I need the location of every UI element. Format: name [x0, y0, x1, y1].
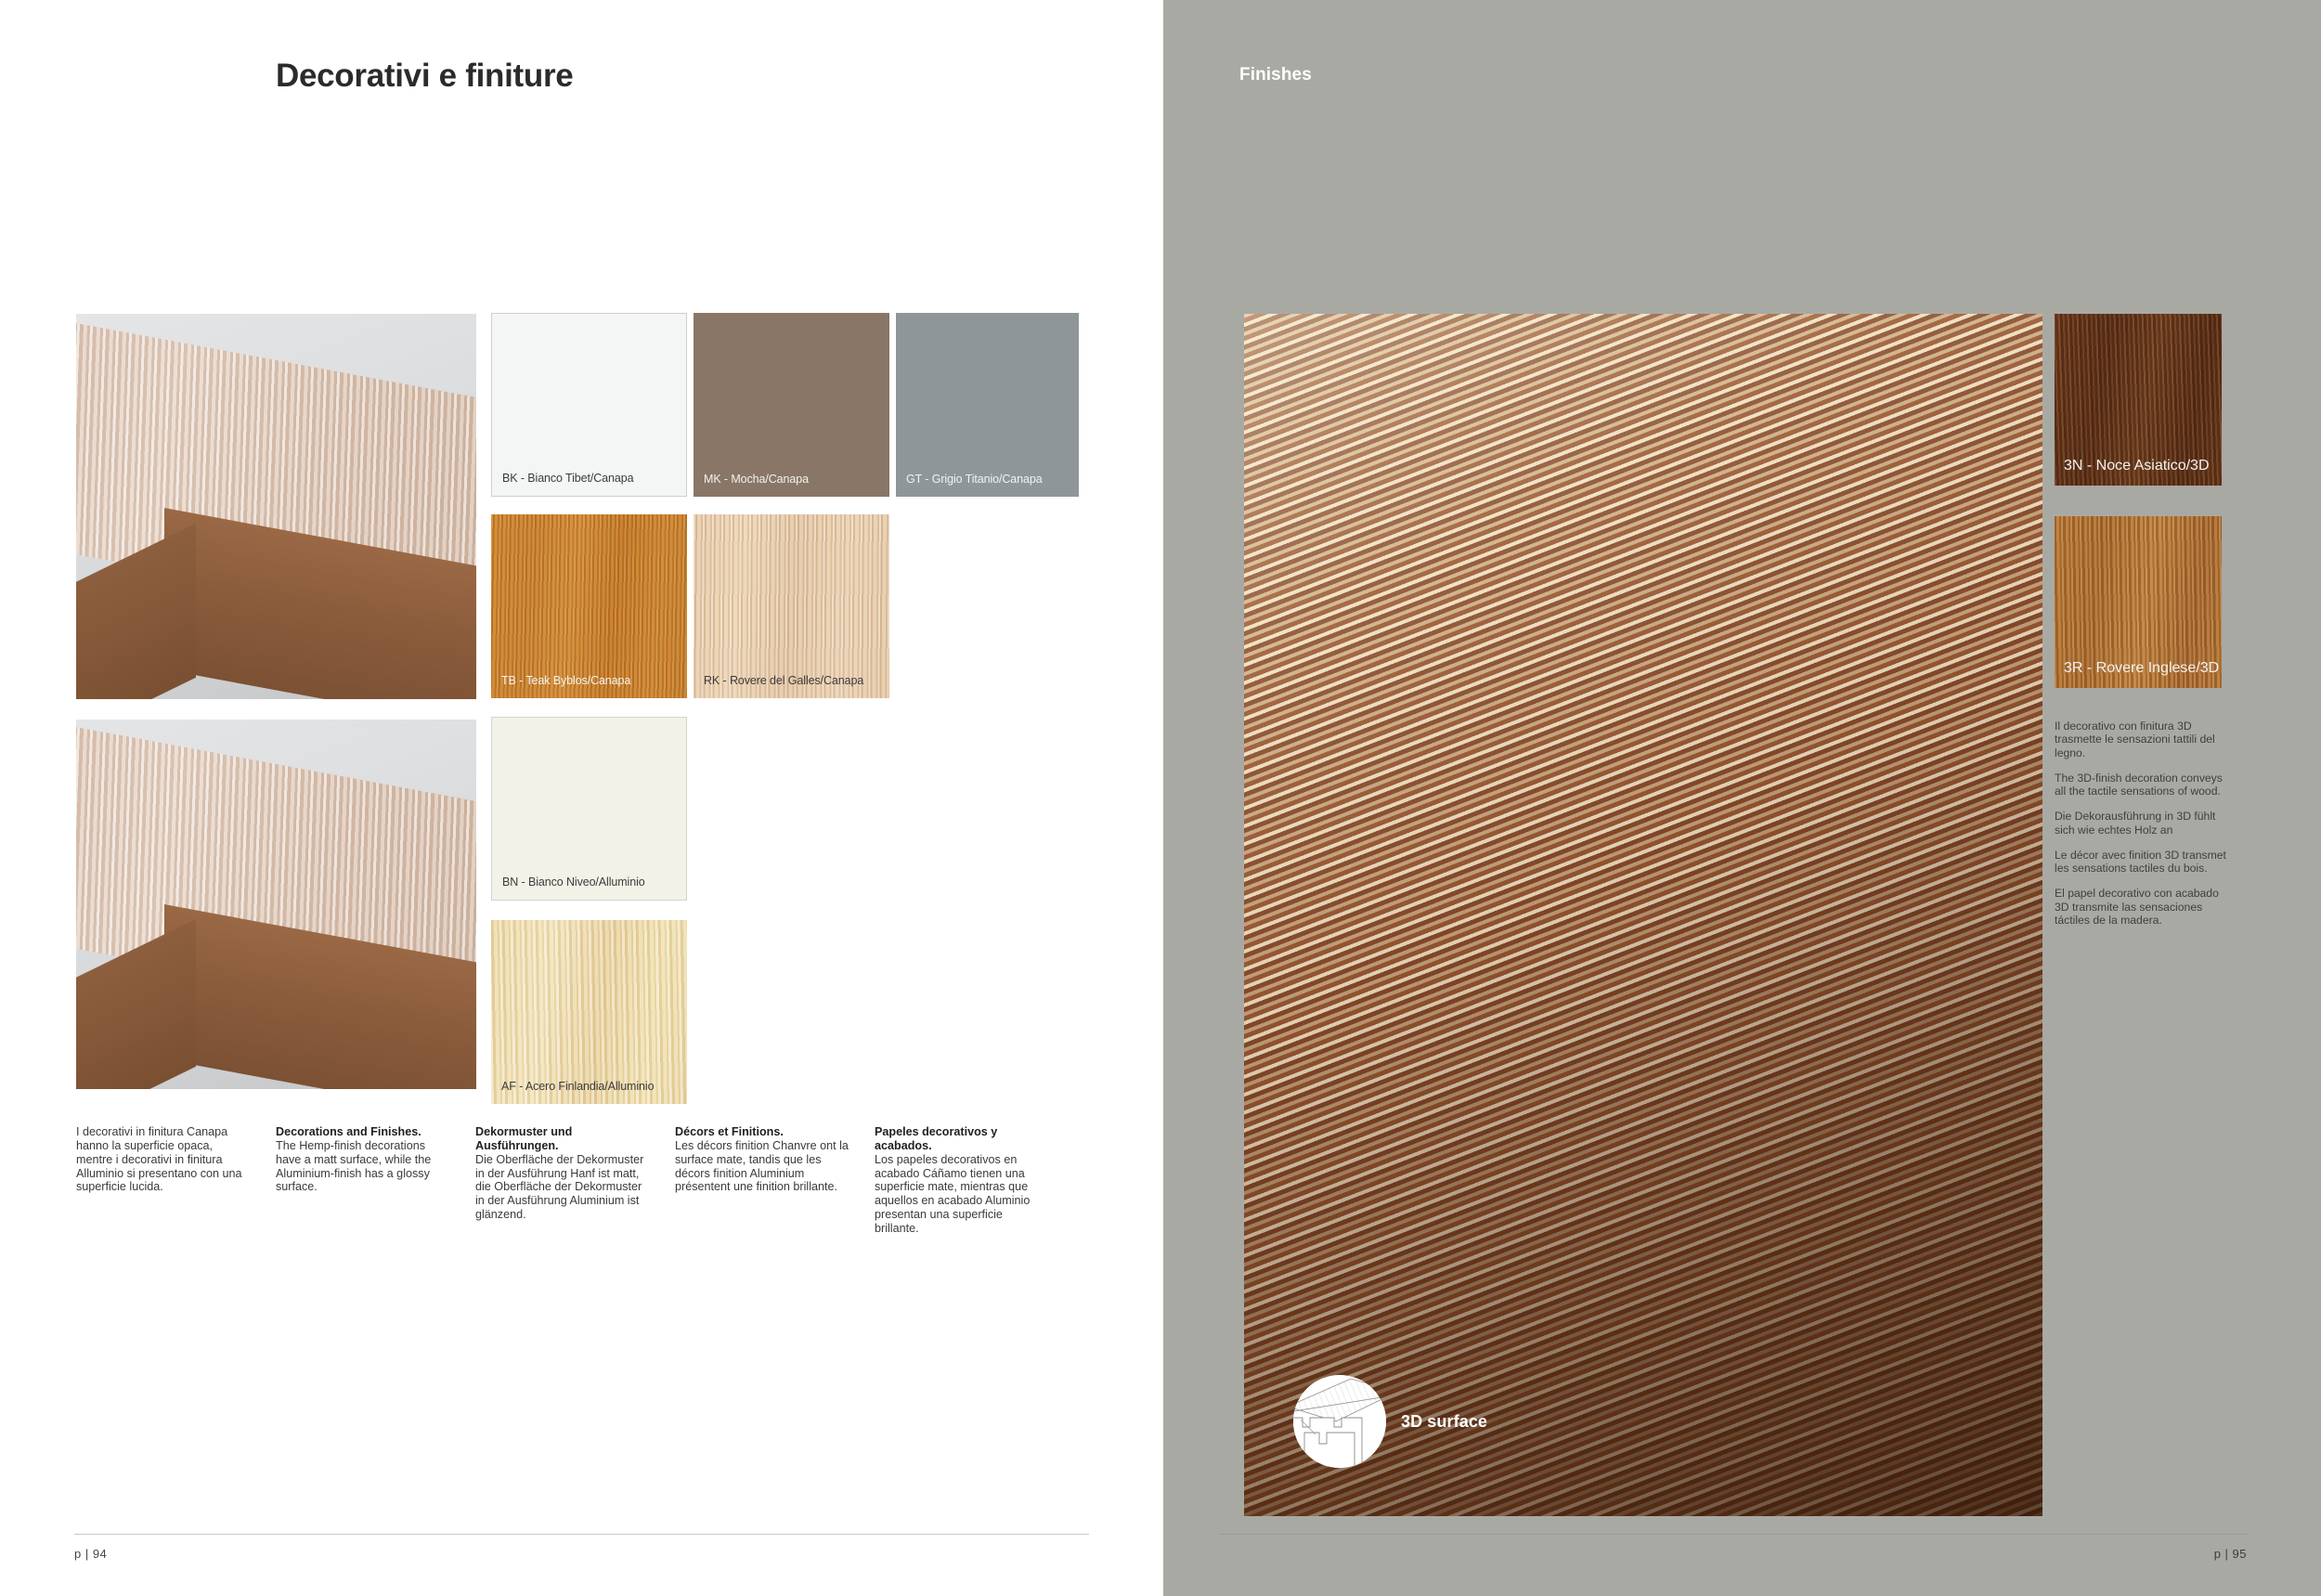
caption-body: Die Oberfläche der Dekormuster in der Au…: [475, 1153, 650, 1222]
side-description-block: Il decorativo con finitura 3D trasmette …: [2055, 720, 2226, 939]
section-title-finishes: Finishes: [1239, 65, 1312, 85]
side-text-es: El papel decorativo con acabado 3D trans…: [2055, 887, 2226, 927]
swatch-mk[interactable]: MK - Mocha/Canapa: [694, 313, 889, 497]
side-text-it: Il decorativo con finitura 3D trasmette …: [2055, 720, 2226, 759]
page-number-right: p | 95: [2214, 1547, 2247, 1561]
swatch-3n[interactable]: 3N - Noce Asiatico/3D: [2055, 314, 2222, 486]
swatch-af[interactable]: AF - Acero Finlandia/Alluminio: [491, 920, 687, 1104]
swatch-texture: [492, 314, 686, 496]
caption-body: Les décors finition Chanvre ont la surfa…: [675, 1139, 849, 1194]
badge-label: 3D surface: [1401, 1412, 1487, 1432]
swatch-label: TB - Teak Byblos/Canapa: [501, 674, 630, 687]
caption-heading: Decorations and Finishes.: [276, 1125, 450, 1139]
footer-rule: [1219, 1534, 2247, 1535]
panel-profile-icon: [1293, 1375, 1386, 1468]
swatch-bn[interactable]: BN - Bianco Niveo/Alluminio: [491, 717, 687, 901]
caption-column-de: Dekormuster und Ausführungen. Die Oberfl…: [475, 1125, 675, 1236]
caption-heading: Dekormuster und Ausführungen.: [475, 1125, 650, 1153]
swatch-label: BN - Bianco Niveo/Alluminio: [502, 876, 645, 889]
side-text-de: Die Dekorausführung in 3D fühlt sich wie…: [2055, 810, 2226, 837]
caption-heading: Décors et Finitions.: [675, 1125, 849, 1139]
panel-scene: [76, 314, 476, 699]
caption-body: Los papeles decorativos en acabado Cáñam…: [875, 1153, 1049, 1236]
caption-heading: Papeles decorativos y acabados.: [875, 1125, 1049, 1153]
swatch-label: MK - Mocha/Canapa: [704, 473, 809, 486]
caption-columns: I decorativi in finitura Canapa hanno la…: [76, 1125, 1079, 1236]
catalog-spread: Decorativi e finiture BK -: [0, 0, 2321, 1596]
swatch-label: RK - Rovere del Galles/Canapa: [704, 674, 863, 687]
swatch-label: 3R - Rovere Inglese/3D: [2064, 660, 2219, 677]
page-title: Decorativi e finiture: [276, 58, 573, 95]
hero-shading-overlay: [1244, 314, 2042, 1516]
caption-column-en: Decorations and Finishes. The Hemp-finis…: [276, 1125, 475, 1236]
swatch-bk[interactable]: BK - Bianco Tibet/Canapa: [491, 313, 687, 497]
left-page: Decorativi e finiture BK -: [0, 0, 1163, 1596]
footer-rule: [74, 1534, 1089, 1535]
swatch-label: AF - Acero Finlandia/Alluminio: [501, 1080, 654, 1093]
caption-body: The Hemp-finish decorations have a matt …: [276, 1139, 450, 1194]
swatch-texture: [896, 313, 1079, 497]
3d-surface-badge: 3D surface: [1293, 1375, 1487, 1468]
caption-body: I decorativi in finitura Canapa hanno la…: [76, 1125, 251, 1194]
panel-corner-canapa-photo: [76, 314, 476, 699]
side-text-en: The 3D-finish decoration conveys all the…: [2055, 772, 2226, 798]
swatch-tb[interactable]: TB - Teak Byblos/Canapa: [491, 514, 687, 698]
caption-column-it: I decorativi in finitura Canapa hanno la…: [76, 1125, 276, 1236]
caption-column-fr: Décors et Finitions. Les décors finition…: [675, 1125, 875, 1236]
swatch-texture: [491, 920, 687, 1104]
side-text-fr: Le décor avec finition 3D transmet les s…: [2055, 849, 2226, 876]
swatch-texture: [694, 514, 889, 698]
swatch-texture: [491, 514, 687, 698]
panel-scene: [76, 720, 476, 1089]
swatch-3r[interactable]: 3R - Rovere Inglese/3D: [2055, 516, 2222, 688]
swatch-label: 3N - Noce Asiatico/3D: [2064, 458, 2210, 474]
swatch-gt[interactable]: GT - Grigio Titanio/Canapa: [896, 313, 1079, 497]
swatch-texture: [492, 718, 686, 900]
swatch-label: BK - Bianco Tibet/Canapa: [502, 472, 633, 485]
panel-corner-alluminio-photo: [76, 720, 476, 1089]
swatch-rk[interactable]: RK - Rovere del Galles/Canapa: [694, 514, 889, 698]
caption-column-es: Papeles decorativos y acabados. Los pape…: [875, 1125, 1074, 1236]
page-number-left: p | 94: [74, 1547, 107, 1561]
swatch-label: GT - Grigio Titanio/Canapa: [906, 473, 1043, 486]
swatch-texture: [694, 313, 889, 497]
3d-surface-hero-photo: [1244, 314, 2042, 1516]
